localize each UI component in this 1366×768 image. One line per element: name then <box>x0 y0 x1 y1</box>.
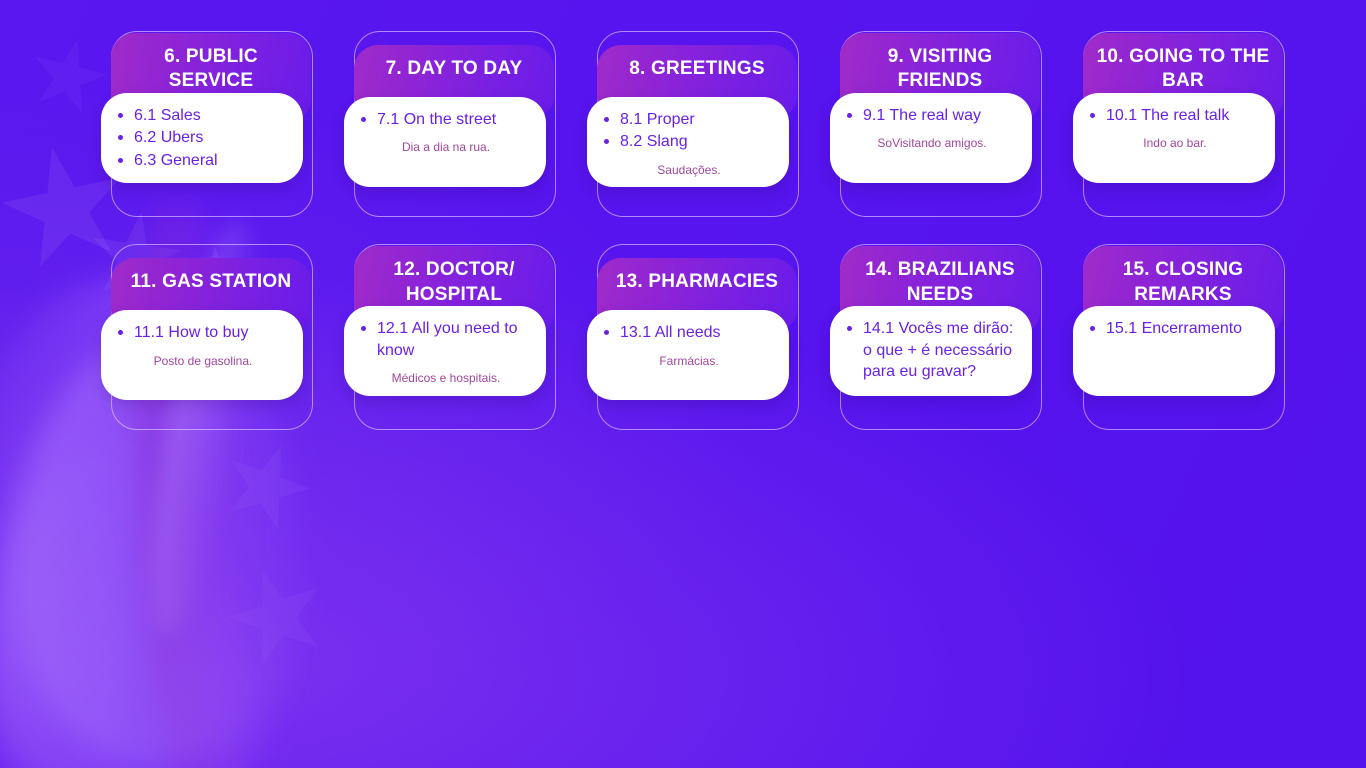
card-title: 7. DAY TO DAY <box>386 57 523 81</box>
card-body: 10.1 The real talkIndo ao bar. <box>1073 93 1275 183</box>
topic-card[interactable]: 7. DAY TO DAY7.1 On the streetDia a dia … <box>344 31 556 187</box>
card-subtitle: Saudações. <box>599 163 779 177</box>
card-title: 15. CLOSING REMARKS <box>1093 258 1273 307</box>
list-item[interactable]: 6.2 Ubers <box>113 127 293 148</box>
card-body: 6.1 Sales6.2 Ubers6.3 General <box>101 93 303 183</box>
topic-card[interactable]: 9. VISITING FRIENDS9.1 The real waySoVis… <box>830 31 1042 187</box>
card-body: 13.1 All needsFarmácias. <box>587 310 789 400</box>
topic-card[interactable]: 15. CLOSING REMARKS15.1 Encerramento <box>1073 244 1285 400</box>
topic-card[interactable]: 10. GOING TO THE BAR10.1 The real talkIn… <box>1073 31 1285 187</box>
card-item-list: 7.1 On the street <box>356 109 536 130</box>
card-title: 11. GAS STATION <box>131 270 292 294</box>
card-subtitle: Farmácias. <box>599 354 779 368</box>
topic-card-board: 6. PUBLIC SERVICE6.1 Sales6.2 Ubers6.3 G… <box>0 0 1366 400</box>
card-item-list: 11.1 How to buy <box>113 322 293 343</box>
list-item[interactable]: 14.1 Vocês me dirão: o que + é necessári… <box>842 318 1022 382</box>
card-item-list: 10.1 The real talk <box>1085 105 1265 126</box>
card-subtitle: Dia a dia na rua. <box>356 140 536 154</box>
list-item[interactable]: 12.1 All you need to know <box>356 318 536 361</box>
card-title: 13. PHARMACIES <box>616 270 778 294</box>
list-item[interactable]: 6.3 General <box>113 150 293 171</box>
list-item[interactable]: 11.1 How to buy <box>113 322 293 343</box>
list-item[interactable]: 9.1 The real way <box>842 105 1022 126</box>
card-item-list: 8.1 Proper8.2 Slang <box>599 109 779 153</box>
card-body: 11.1 How to buyPosto de gasolina. <box>101 310 303 400</box>
card-item-list: 9.1 The real way <box>842 105 1022 126</box>
topic-card[interactable]: 13. PHARMACIES13.1 All needsFarmácias. <box>587 244 799 400</box>
card-subtitle: Médicos e hospitais. <box>356 371 536 385</box>
card-item-list: 14.1 Vocês me dirão: o que + é necessári… <box>842 318 1022 382</box>
card-title: 12. DOCTOR/ HOSPITAL <box>364 258 544 307</box>
card-body: 15.1 Encerramento <box>1073 306 1275 396</box>
card-item-list: 13.1 All needs <box>599 322 779 343</box>
list-item[interactable]: 8.1 Proper <box>599 109 779 130</box>
card-subtitle: SoVisitando amigos. <box>842 136 1022 150</box>
topic-card[interactable]: 8. GREETINGS8.1 Proper8.2 SlangSaudações… <box>587 31 799 187</box>
card-title: 6. PUBLIC SERVICE <box>121 45 301 94</box>
card-body: 7.1 On the streetDia a dia na rua. <box>344 97 546 187</box>
card-body: 14.1 Vocês me dirão: o que + é necessári… <box>830 306 1032 396</box>
card-title: 10. GOING TO THE BAR <box>1093 45 1273 94</box>
topic-card[interactable]: 11. GAS STATION11.1 How to buyPosto de g… <box>101 244 313 400</box>
list-item[interactable]: 6.1 Sales <box>113 105 293 126</box>
card-item-list: 12.1 All you need to know <box>356 318 536 361</box>
card-subtitle: Posto de gasolina. <box>113 354 293 368</box>
list-item[interactable]: 8.2 Slang <box>599 131 779 152</box>
card-row: 6. PUBLIC SERVICE6.1 Sales6.2 Ubers6.3 G… <box>101 31 1304 187</box>
card-title: 14. BRAZILIANS NEEDS <box>850 258 1030 307</box>
list-item[interactable]: 7.1 On the street <box>356 109 536 130</box>
list-item[interactable]: 10.1 The real talk <box>1085 105 1265 126</box>
card-row: 11. GAS STATION11.1 How to buyPosto de g… <box>101 244 1304 400</box>
card-subtitle: Indo ao bar. <box>1085 136 1265 150</box>
card-body: 12.1 All you need to knowMédicos e hospi… <box>344 306 546 396</box>
card-item-list: 6.1 Sales6.2 Ubers6.3 General <box>113 105 293 171</box>
card-title: 9. VISITING FRIENDS <box>850 45 1030 94</box>
card-title: 8. GREETINGS <box>629 57 764 81</box>
topic-card[interactable]: 12. DOCTOR/ HOSPITAL12.1 All you need to… <box>344 244 556 400</box>
list-item[interactable]: 15.1 Encerramento <box>1085 318 1265 339</box>
topic-card[interactable]: 14. BRAZILIANS NEEDS14.1 Vocês me dirão:… <box>830 244 1042 400</box>
card-item-list: 15.1 Encerramento <box>1085 318 1265 339</box>
card-body: 9.1 The real waySoVisitando amigos. <box>830 93 1032 183</box>
topic-card[interactable]: 6. PUBLIC SERVICE6.1 Sales6.2 Ubers6.3 G… <box>101 31 313 187</box>
card-body: 8.1 Proper8.2 SlangSaudações. <box>587 97 789 187</box>
list-item[interactable]: 13.1 All needs <box>599 322 779 343</box>
